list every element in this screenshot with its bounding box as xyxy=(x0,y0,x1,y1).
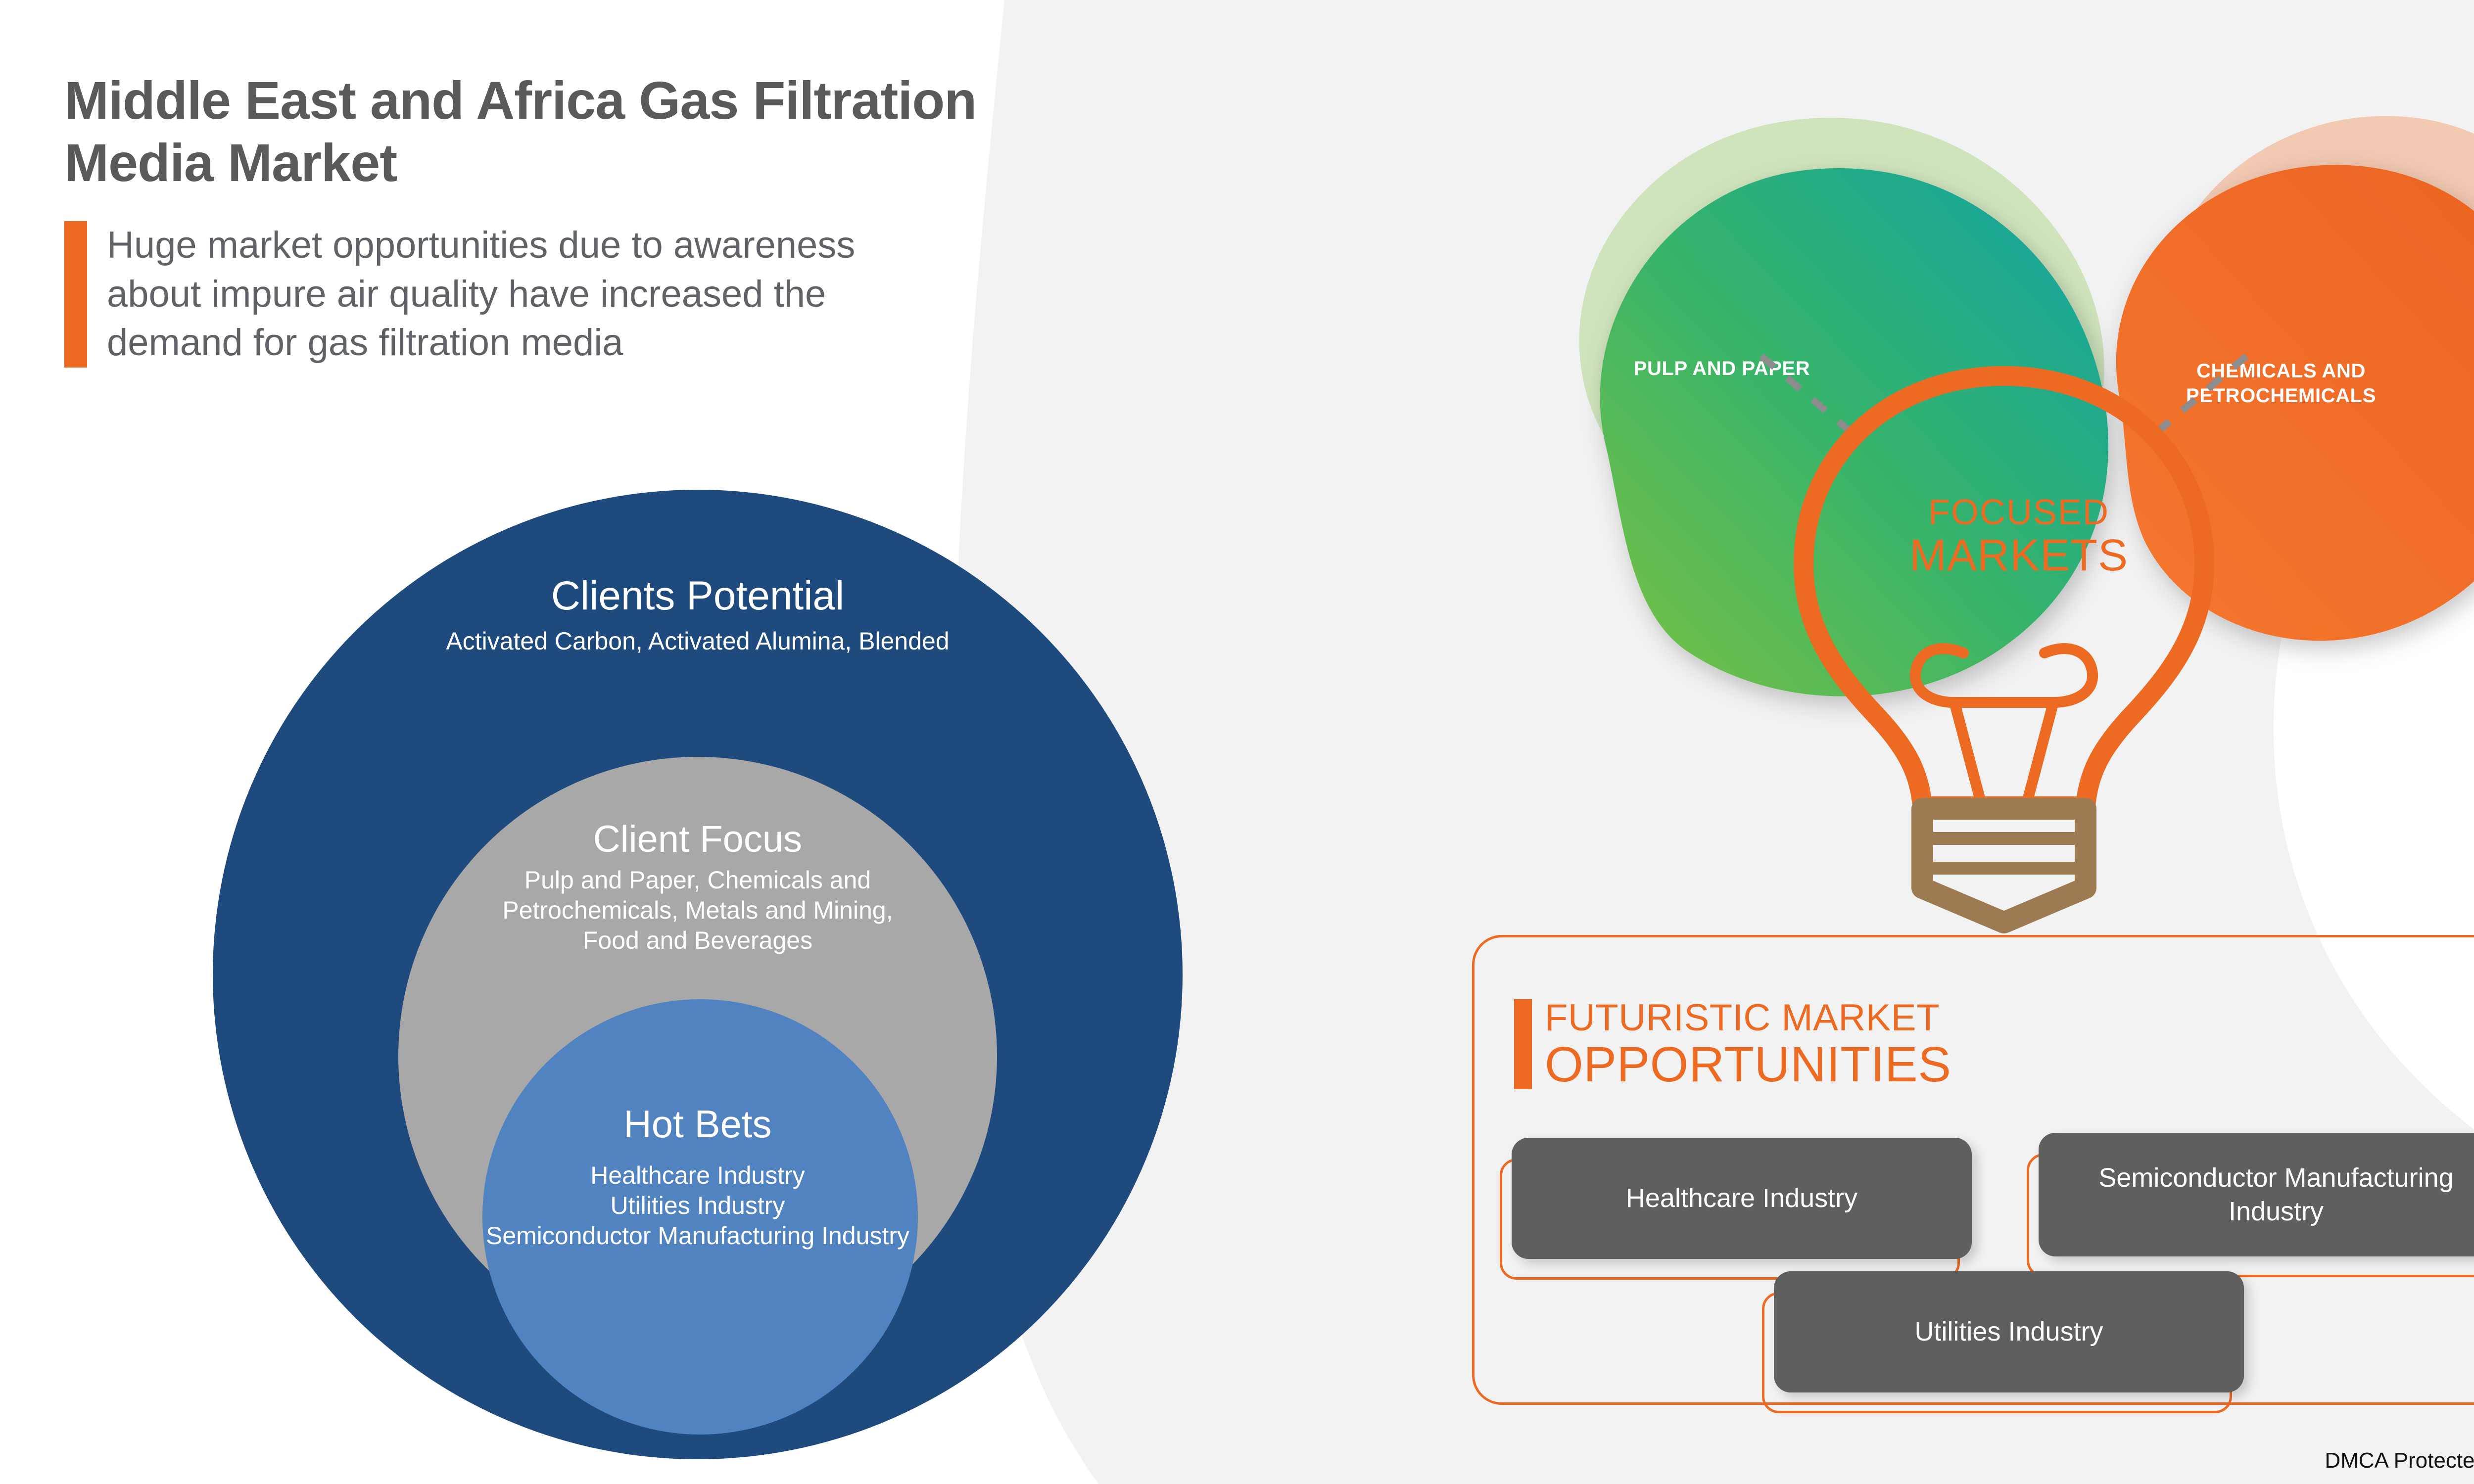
client-focus-label: Client Focus Pulp and Paper, Chemicals a… xyxy=(341,819,1054,956)
opportunity-card[interactable]: Utilities Industry xyxy=(1774,1271,2244,1392)
hot-bets-label: Hot Bets Healthcare Industry Utilities I… xyxy=(297,1103,1098,1251)
client-focus-body: Pulp and Paper, Chemicals and Petrochemi… xyxy=(341,865,1054,956)
opportunity-card-label: Semiconductor Manufacturing Industry xyxy=(2039,1133,2474,1256)
bulb-glass xyxy=(1804,376,2204,806)
clients-potential-heading: Clients Potential xyxy=(297,574,1098,618)
hot-bets-body: Healthcare Industry Utilities Industry S… xyxy=(297,1160,1098,1251)
opportunities-accent-bar xyxy=(1514,999,1532,1089)
connector-line-left xyxy=(1761,356,1860,440)
filament-leg-left xyxy=(1954,702,1982,805)
lightbulb-icon xyxy=(1757,346,2251,940)
hot-bets-heading: Hot Bets xyxy=(297,1103,1098,1146)
connector-line-right xyxy=(2147,356,2246,440)
subtitle-block: Huge market opportunities due to awarene… xyxy=(64,221,1301,368)
nested-circles-diagram: Clients Potential Activated Carbon, Acti… xyxy=(198,490,1188,1484)
clients-potential-label: Clients Potential Activated Carbon, Acti… xyxy=(297,574,1098,656)
opportunity-card[interactable]: Semiconductor Manufacturing Industry xyxy=(2039,1133,2474,1256)
opportunity-card-label: Utilities Industry xyxy=(1774,1271,2244,1392)
header: Middle East and Africa Gas Filtration Me… xyxy=(64,69,1301,368)
markets-label: MARKETS xyxy=(1890,533,2147,578)
opportunities-heading-line1: FUTURISTIC MARKET xyxy=(1545,999,1951,1037)
opportunities-heading: FUTURISTIC MARKET OPPORTUNITIES xyxy=(1514,999,1951,1089)
filament-leg-right xyxy=(2026,702,2053,805)
opportunity-card[interactable]: Healthcare Industry xyxy=(1512,1138,1972,1259)
opportunities-heading-line2: OPPORTUNITIES xyxy=(1545,1040,1951,1089)
focused-label: FOCUSED xyxy=(1890,495,2147,530)
opportunity-card-label: Healthcare Industry xyxy=(1512,1138,1972,1259)
focused-markets-text: FOCUSED MARKETS xyxy=(1890,495,2147,578)
page-title: Middle East and Africa Gas Filtration Me… xyxy=(64,69,1301,194)
clients-potential-body: Activated Carbon, Activated Alumina, Ble… xyxy=(297,626,1098,656)
copyright-footer: DMCA Protected © DataBridge xyxy=(2325,1448,2474,1473)
subtitle-text: Huge market opportunities due to awarene… xyxy=(107,221,855,368)
bulb-filament xyxy=(1915,649,2093,702)
subtitle-accent-bar xyxy=(64,221,87,368)
client-focus-heading: Client Focus xyxy=(341,819,1054,860)
